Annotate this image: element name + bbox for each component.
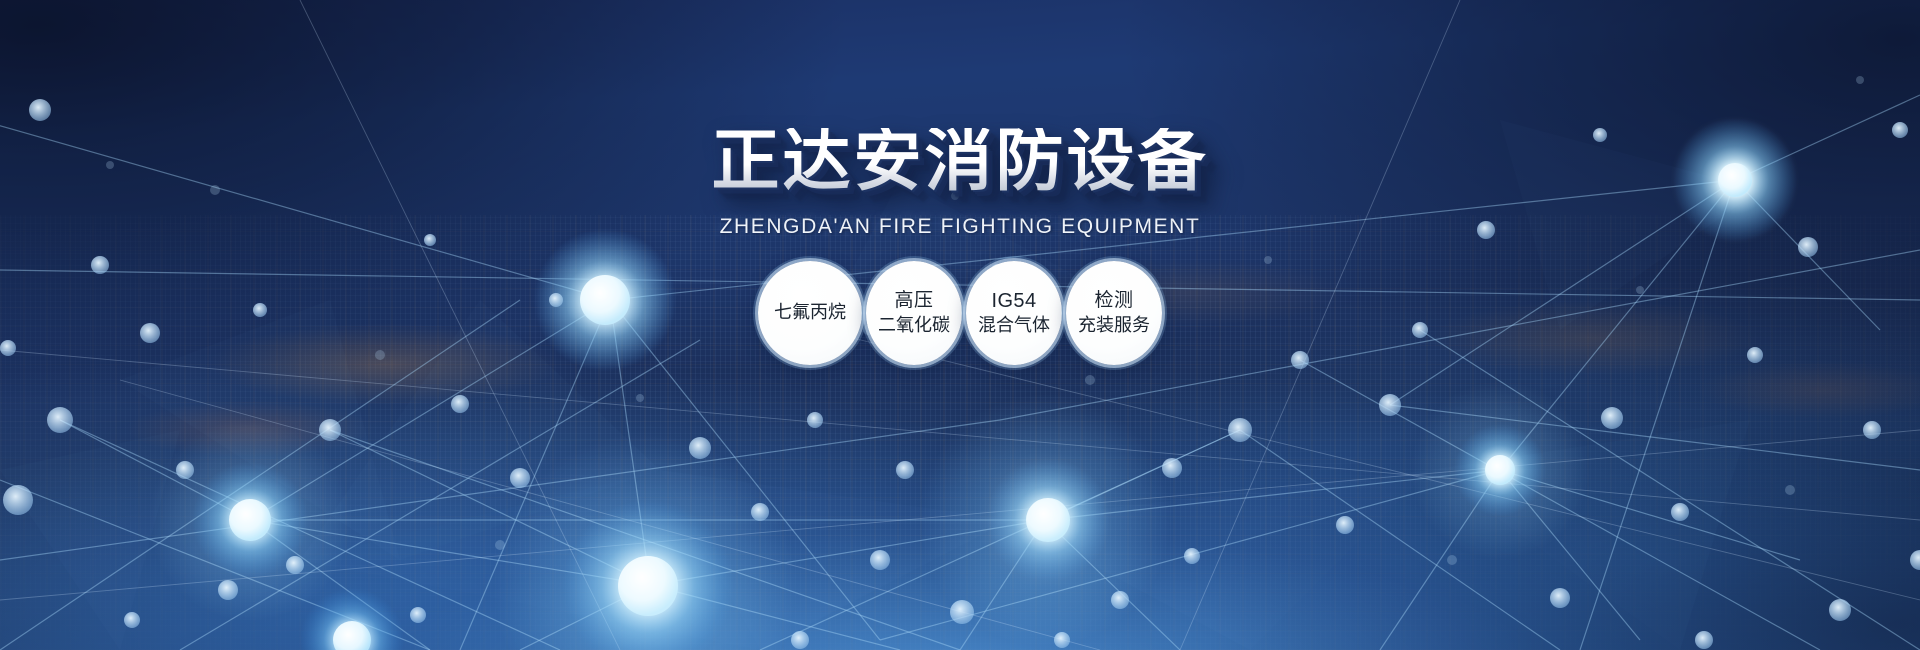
badge-label-line2: 充装服务 [1078, 314, 1150, 338]
badge-row: 七氟丙烷 高压 二氧化碳 IG54 混合气体 检测 充装服务 [758, 261, 1162, 365]
badge-label-line1: IG54 [992, 288, 1037, 315]
badge-label-line1: 检测 [1094, 288, 1133, 313]
hero-banner: 正达安消防设备 ZHENGDA'AN FIRE FIGHTING EQUIPME… [0, 0, 1920, 650]
badge-label-line1: 高压 [894, 288, 933, 313]
badge-label-line2: 二氧化碳 [878, 314, 950, 338]
badge-inspection-filling-service[interactable]: 检测 充装服务 [1066, 261, 1162, 365]
badge-label-line1: 七氟丙烷 [774, 301, 846, 325]
page-subtitle: ZHENGDA'AN FIRE FIGHTING EQUIPMENT [711, 216, 1208, 237]
page-title: 正达安消防设备 [711, 128, 1208, 196]
badge-high-pressure-co2[interactable]: 高压 二氧化碳 [866, 261, 962, 365]
badge-ig54-mixed-gas[interactable]: IG54 混合气体 [966, 261, 1062, 365]
badge-label-line2: 混合气体 [978, 314, 1050, 338]
badge-heptafluoropropane[interactable]: 七氟丙烷 [758, 261, 862, 365]
title-block: 正达安消防设备 ZHENGDA'AN FIRE FIGHTING EQUIPME… [711, 128, 1208, 237]
